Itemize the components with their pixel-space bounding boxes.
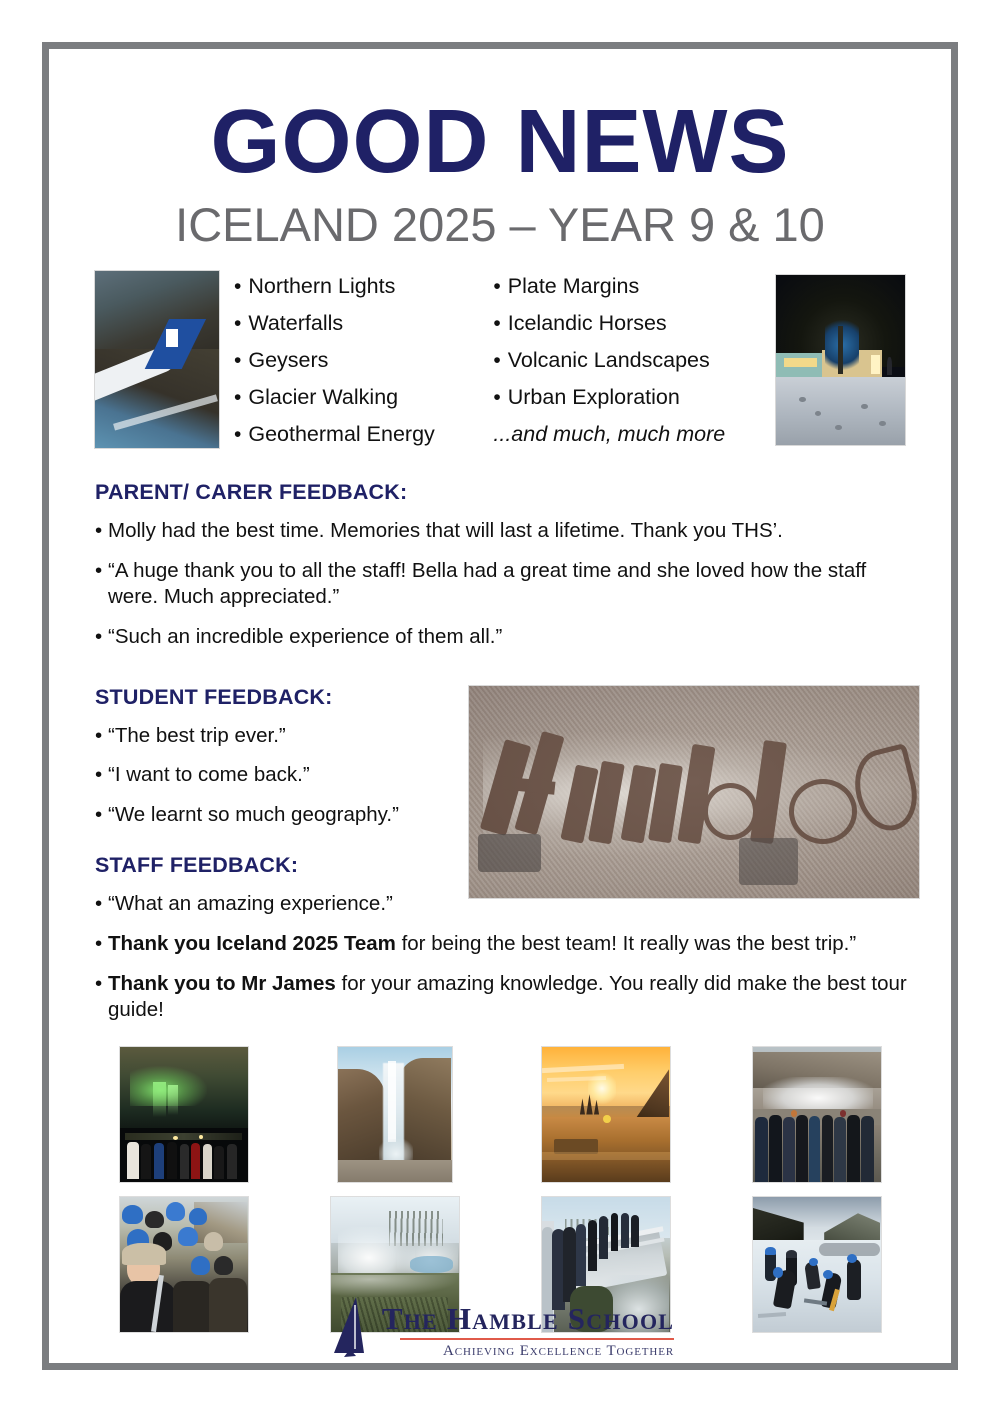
highlight-label: Northern Lights [248, 276, 395, 298]
highlight-label: Geysers [248, 350, 328, 372]
bullet-icon: • [234, 350, 241, 371]
gallery-cell [305, 1046, 484, 1183]
highlight-item: •Northern Lights [234, 268, 477, 305]
students-at-geothermal-steam-photo [752, 1046, 882, 1183]
highlight-item: •Glacier Walking [234, 379, 477, 416]
staff-feedback-item: Thank you to Mr James for your amazing k… [95, 971, 909, 1024]
reynisdrangar-sunset-photo [541, 1046, 671, 1183]
sailboat-sail-icon [326, 1297, 368, 1359]
parent-feedback-section: PARENT/ CARER FEEDBACK: Molly had the be… [49, 480, 951, 651]
parent-feedback-item: “Such an incredible experience of them a… [95, 624, 896, 651]
page-title: GOOD NEWS [49, 97, 951, 187]
gallery-cell [94, 1046, 273, 1183]
highlight-label: Volcanic Landscapes [508, 350, 710, 372]
northern-lights-group-photo [119, 1046, 249, 1183]
bullet-icon: • [493, 387, 500, 408]
highlight-label: Plate Margins [508, 276, 639, 298]
parent-feedback-heading: PARENT/ CARER FEEDBACK: [49, 480, 951, 505]
hamble-written-in-snow-photo [468, 685, 920, 899]
staff-feedback-text: for being the best team! It really was t… [396, 932, 856, 955]
highlights-columns: •Northern Lights •Waterfalls •Geysers •G… [234, 268, 766, 453]
logo-text-block: The Hamble School Achieving Excellence T… [382, 1295, 674, 1359]
highlight-label: Waterfalls [248, 313, 343, 335]
airplane-wing-over-iceland-coast-photo [94, 270, 220, 449]
highlight-item: •Geysers [234, 342, 477, 379]
highlights-left-column: •Northern Lights •Waterfalls •Geysers •G… [234, 268, 477, 453]
staff-feedback-text: “What an amazing experience.” [108, 892, 393, 915]
highlight-item: •Volcanic Landscapes [493, 342, 766, 379]
student-staff-section: STUDENT FEEDBACK: “The best trip ever.” … [49, 685, 951, 1024]
student-feedback-item: “I want to come back.” [95, 762, 469, 789]
student-feedback-heading: STUDENT FEEDBACK: [49, 685, 469, 710]
school-logo: The Hamble School Achieving Excellence T… [326, 1295, 674, 1359]
snowy-night-school-with-lit-tree-photo [775, 274, 906, 446]
bullet-icon: • [493, 276, 500, 297]
student-feedback-item: “The best trip ever.” [95, 723, 469, 750]
poster-frame: GOOD NEWS ICELAND 2025 – YEAR 9 & 10 •No… [42, 42, 958, 1370]
bullet-icon: • [234, 276, 241, 297]
parent-feedback-item: “A huge thank you to all the staff! Bell… [95, 558, 896, 611]
staff-feedback-list: “What an amazing experience.” Thank you … [49, 891, 951, 1024]
highlight-item: •Plate Margins [493, 268, 766, 305]
footer: The Hamble School Achieving Excellence T… [49, 1295, 951, 1359]
highlight-label: Icelandic Horses [508, 313, 667, 335]
highlight-label: Urban Exploration [508, 387, 680, 409]
logo-divider [400, 1338, 674, 1340]
gallery-cell [727, 1046, 906, 1183]
poster-body: GOOD NEWS ICELAND 2025 – YEAR 9 & 10 •No… [49, 49, 951, 1363]
parent-feedback-list: Molly had the best time. Memories that w… [49, 518, 951, 651]
highlights-right-column: •Plate Margins •Icelandic Horses •Volcan… [493, 268, 766, 453]
page-subtitle: ICELAND 2025 – YEAR 9 & 10 [49, 201, 951, 248]
highlight-item: •Geothermal Energy [234, 416, 477, 453]
school-tagline: Achieving Excellence Together [382, 1344, 674, 1359]
highlight-item: •Urban Exploration [493, 379, 766, 416]
student-feedback-section: STUDENT FEEDBACK: “The best trip ever.” … [49, 685, 469, 829]
parent-feedback-item: Molly had the best time. Memories that w… [95, 518, 896, 545]
bullet-icon: • [493, 350, 500, 371]
bullet-icon: • [234, 387, 241, 408]
gallery-cell [516, 1046, 695, 1183]
student-feedback-list: “The best trip ever.” “I want to come ba… [49, 723, 469, 829]
highlight-label: Glacier Walking [248, 387, 398, 409]
highlight-label: Geothermal Energy [248, 424, 434, 446]
bullet-icon: • [234, 313, 241, 334]
highlight-item: •Waterfalls [234, 305, 477, 342]
school-name: The Hamble School [382, 1303, 674, 1334]
staff-feedback-item: Thank you Iceland 2025 Team for being th… [95, 931, 909, 958]
highlights-more-text: ...and much, much more [493, 416, 766, 453]
photo-gallery [49, 1046, 951, 1333]
highlight-item: •Icelandic Horses [493, 305, 766, 342]
highlights-section: •Northern Lights •Waterfalls •Geysers •G… [49, 268, 951, 458]
staff-feedback-item: “What an amazing experience.” [95, 891, 508, 918]
staff-feedback-emphasis: Thank you Iceland 2025 Team [108, 932, 396, 955]
bullet-icon: • [493, 313, 500, 334]
staff-feedback-emphasis: Thank you to Mr James [108, 972, 336, 995]
student-feedback-item: “We learnt so much geography.” [95, 802, 469, 829]
seljalandsfoss-waterfall-photo [337, 1046, 453, 1183]
bullet-icon: • [234, 424, 241, 445]
